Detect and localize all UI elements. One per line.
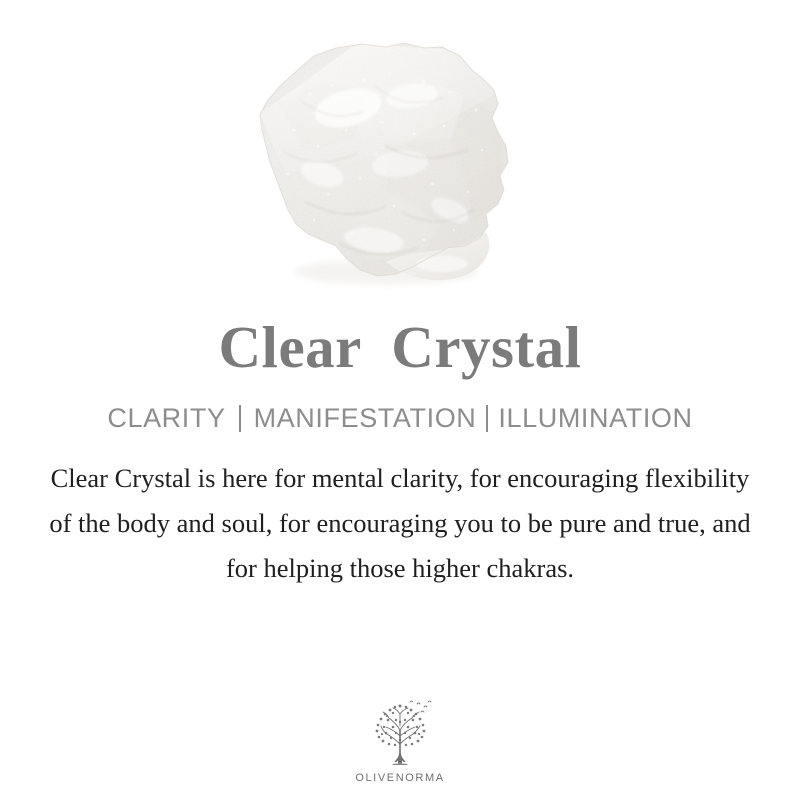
product-info-card: Clear Crystal CLARITY MANIFESTATION ILLU… bbox=[0, 0, 800, 800]
keyword-list: CLARITY MANIFESTATION ILLUMINATION bbox=[107, 403, 692, 434]
brand-logo: OLIVENORMA bbox=[0, 700, 800, 784]
keyword-separator bbox=[239, 405, 241, 432]
tree-icon bbox=[362, 700, 438, 770]
crystal-image bbox=[236, 34, 526, 294]
product-description: Clear Crystal is here for mental clarity… bbox=[40, 456, 760, 591]
keyword-manifestation: MANIFESTATION bbox=[254, 403, 477, 434]
product-image-area bbox=[0, 0, 800, 318]
keyword-clarity: CLARITY bbox=[107, 403, 225, 434]
brand-name: OLIVENORMA bbox=[355, 772, 444, 784]
page-title: Clear Crystal bbox=[218, 318, 581, 377]
crystal-illustration bbox=[236, 34, 526, 294]
keyword-separator bbox=[486, 405, 488, 432]
keyword-illumination: ILLUMINATION bbox=[498, 403, 692, 434]
